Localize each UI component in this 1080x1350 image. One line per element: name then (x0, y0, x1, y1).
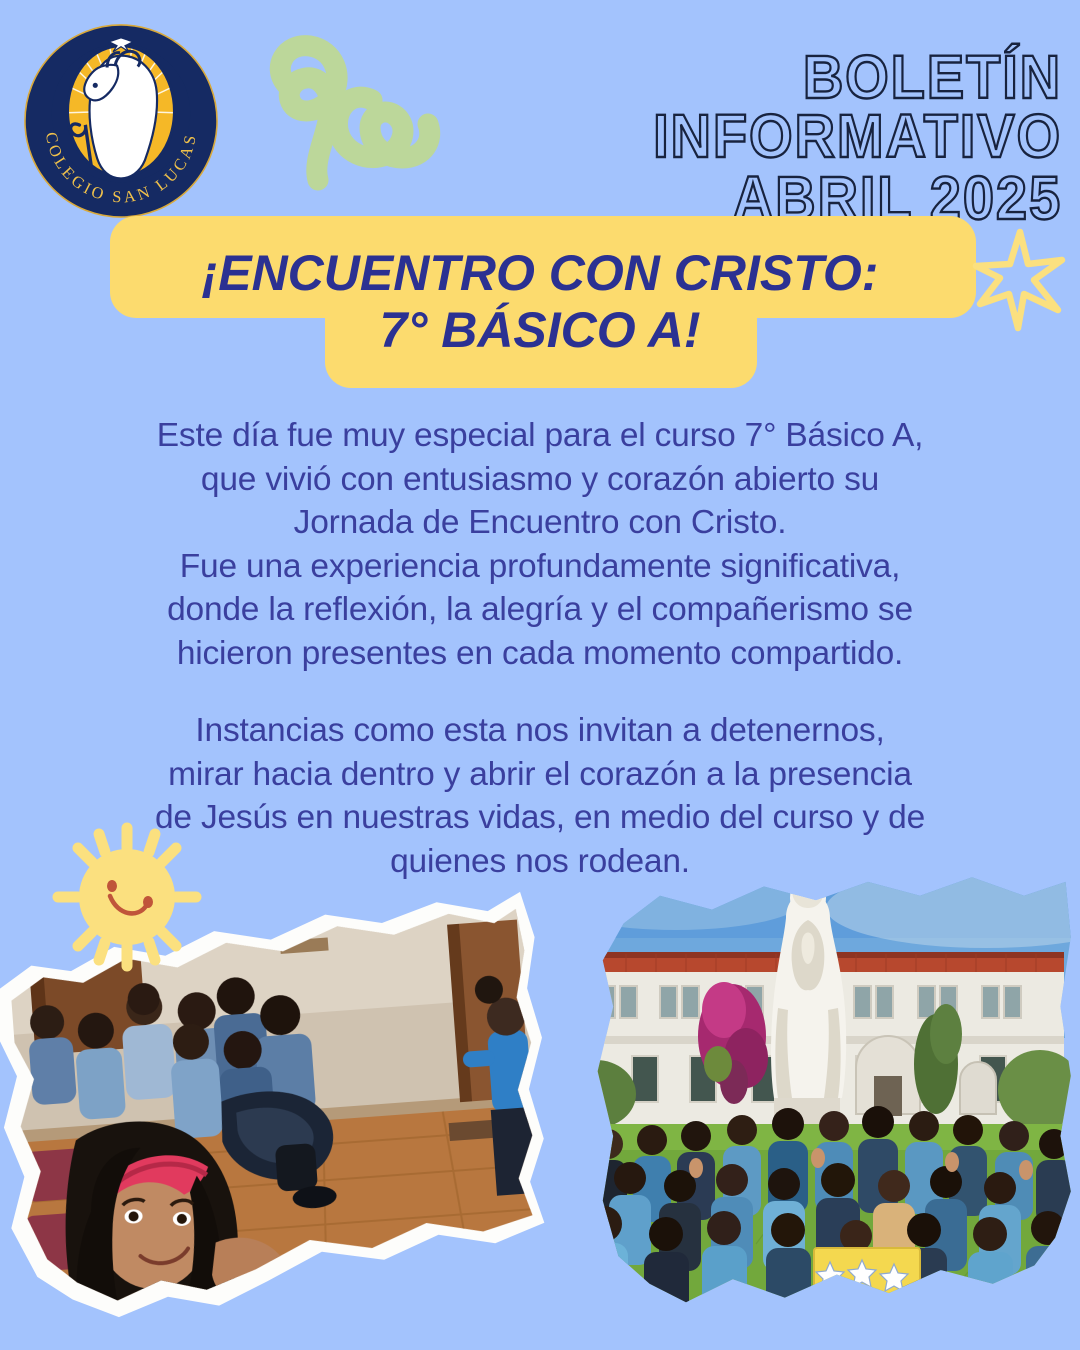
newsletter-title: BOLETÍN INFORMATIVO ABRIL 2025 (382, 48, 1062, 228)
newsletter-title-line1: BOLETÍN INFORMATIVO (436, 48, 1062, 165)
headline-banner: ¡ENCUENTRO CON CRISTO: 7° BÁSICO A! (0, 216, 1080, 388)
poster-canvas: COLEGIO SAN LUCAS BOLETÍN INFORMATIVO AB… (0, 0, 1080, 1350)
smiling-sun-doodle (52, 822, 202, 972)
hand-drawn-star-doodle (962, 224, 1074, 336)
body-copy: Este día fue muy especial para el curso … (46, 414, 1034, 883)
group-photo-scene (556, 868, 1076, 1330)
sun-icon (52, 822, 202, 972)
body-paragraph-1: Este día fue muy especial para el curso … (46, 414, 1034, 675)
banner-band-bottom (325, 288, 757, 388)
star-icon (962, 224, 1074, 336)
school-logo: COLEGIO SAN LUCAS (22, 22, 220, 220)
colegio-san-lucas-seal-icon: COLEGIO SAN LUCAS (22, 22, 220, 220)
photo-group-jesus-statue (556, 868, 1076, 1330)
